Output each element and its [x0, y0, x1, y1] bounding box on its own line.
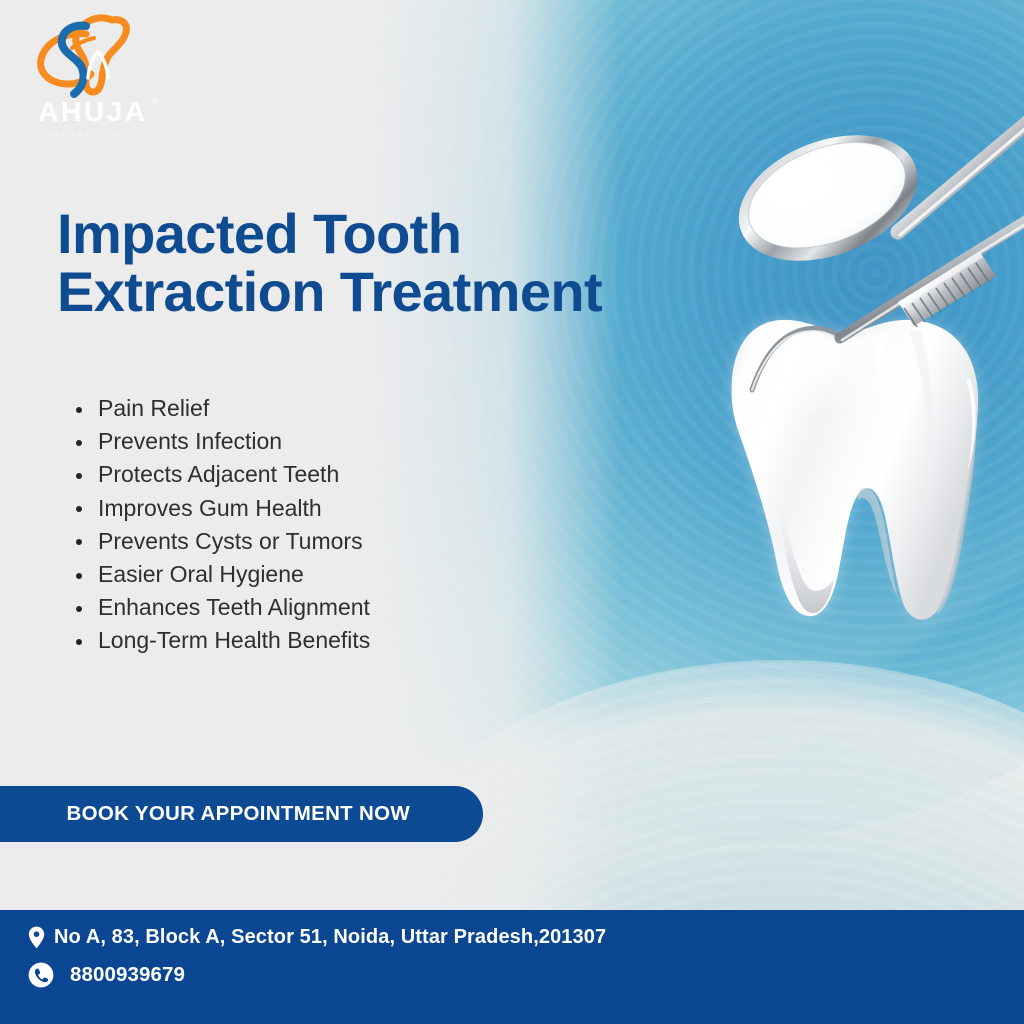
logo-tagline-text: DENTAL CLINIC	[45, 130, 139, 140]
footer-address-row[interactable]: No A, 83, Block A, Sector 51, Noida, Utt…	[28, 926, 1024, 949]
footer-phone-text: 8800939679	[70, 963, 185, 987]
page-title: Impacted Tooth Extraction Treatment	[57, 205, 747, 320]
list-item: Prevents Infection	[68, 425, 370, 458]
logo-dash-right: —	[139, 130, 152, 140]
logo-dash-left: —	[32, 130, 45, 140]
list-item: Prevents Cysts or Tumors	[68, 525, 370, 558]
registered-trademark-icon: ®	[152, 97, 158, 106]
list-item: Improves Gum Health	[68, 492, 370, 525]
molar-tooth-illustration	[732, 320, 979, 620]
book-appointment-label: BOOK YOUR APPOINTMENT NOW	[67, 802, 410, 826]
book-appointment-button[interactable]: BOOK YOUR APPOINTMENT NOW	[0, 786, 483, 842]
footer-address-text: No A, 83, Block A, Sector 51, Noida, Utt…	[54, 926, 606, 949]
list-item: Protects Adjacent Teeth	[68, 458, 370, 491]
list-item: Easier Oral Hygiene	[68, 558, 370, 591]
logo-brand-name: AHUJA	[36, 98, 147, 126]
logo-wordmark: AHUJA ® —DENTAL CLINIC—	[22, 98, 162, 140]
list-item: Enhances Teeth Alignment	[68, 591, 370, 624]
footer-phone-row[interactable]: 8800939679	[28, 962, 1024, 988]
list-item: Pain Relief	[68, 392, 370, 425]
location-pin-icon	[28, 926, 54, 949]
poster-canvas: AHUJA ® —DENTAL CLINIC— Impacted Tooth E…	[0, 0, 1024, 1024]
list-item: Long-Term Health Benefits	[68, 624, 370, 657]
tooth-swoosh-logo-icon	[34, 12, 152, 100]
brand-logo[interactable]: AHUJA ® —DENTAL CLINIC—	[22, 12, 162, 140]
phone-icon	[28, 962, 54, 988]
footer-contact-bar: No A, 83, Block A, Sector 51, Noida, Utt…	[0, 910, 1024, 1024]
logo-tagline: —DENTAL CLINIC—	[22, 130, 162, 140]
headline-line-1: Impacted Tooth	[57, 205, 747, 263]
headline-line-2: Extraction Treatment	[57, 263, 747, 321]
benefits-list: Pain Relief Prevents Infection Protects …	[68, 392, 370, 658]
